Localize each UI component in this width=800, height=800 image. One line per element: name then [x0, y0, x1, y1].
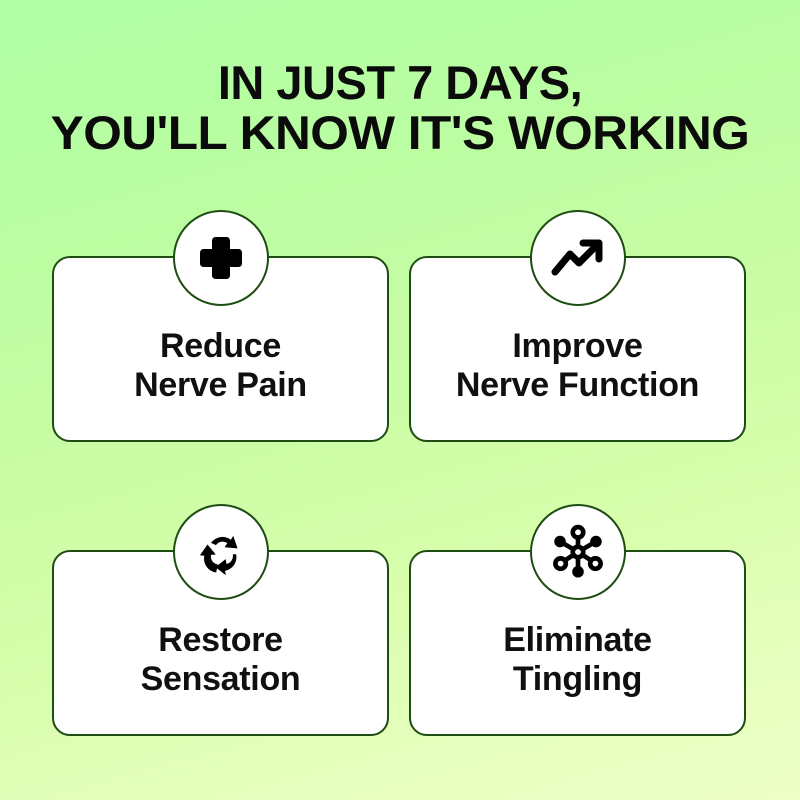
benefit-card-label: Reduce Nerve Pain	[134, 327, 307, 406]
benefits-infographic: IN JUST 7 DAYS, YOU'LL KNOW IT'S WORKING…	[0, 0, 800, 800]
benefit-icon-badge	[173, 210, 269, 306]
headline-line-2: YOU'LL KNOW IT'S WORKING	[0, 108, 800, 158]
benefit-card-label: Restore Sensation	[141, 621, 301, 700]
recycle-icon	[194, 525, 248, 579]
plus-icon	[196, 233, 246, 283]
benefit-card-label: Eliminate Tingling	[503, 621, 651, 700]
benefit-card-label: Improve Nerve Function	[456, 327, 699, 406]
page-title: IN JUST 7 DAYS, YOU'LL KNOW IT'S WORKING	[0, 58, 800, 158]
network-nodes-icon	[549, 523, 607, 581]
trending-up-icon	[550, 233, 606, 283]
benefit-icon-badge	[530, 210, 626, 306]
benefit-card-restore-sensation: Restore Sensation	[52, 550, 389, 736]
benefit-card-improve-nerve-function: Improve Nerve Function	[409, 256, 746, 442]
benefit-card-eliminate-tingling: Eliminate Tingling	[409, 550, 746, 736]
benefit-icon-badge	[530, 504, 626, 600]
headline-line-1: IN JUST 7 DAYS,	[0, 58, 800, 108]
benefit-icon-badge	[173, 504, 269, 600]
benefit-card-grid: Reduce Nerve Pain Improve Nerve Function	[52, 256, 746, 736]
benefit-card-reduce-nerve-pain: Reduce Nerve Pain	[52, 256, 389, 442]
